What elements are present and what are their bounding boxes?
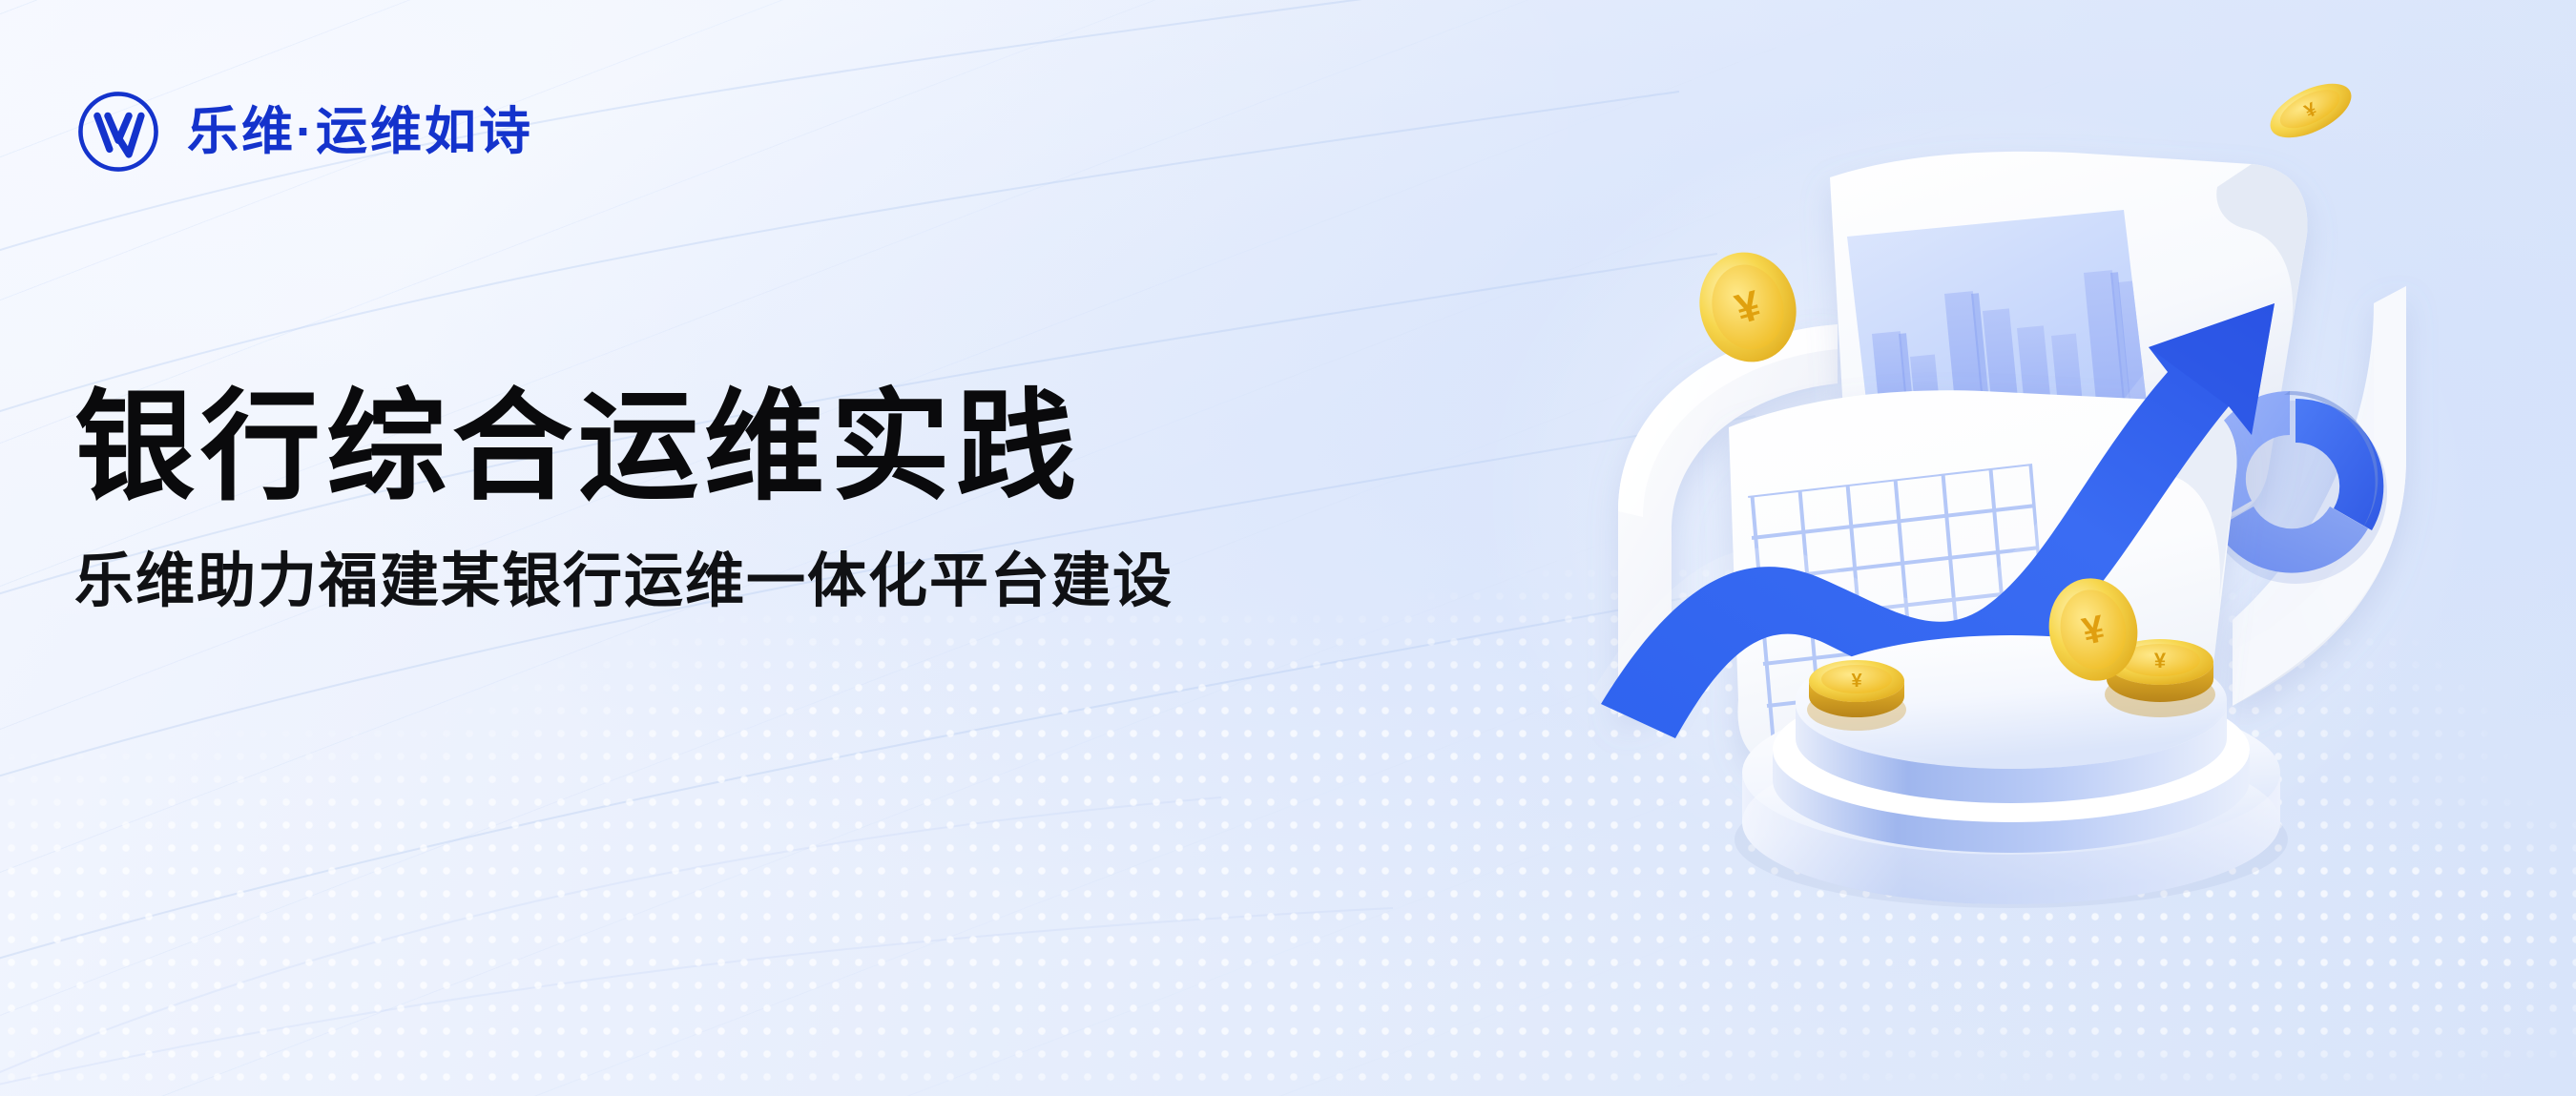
- page-subtitle: 乐维助力福建某银行运维一体化平台建设: [74, 547, 1174, 617]
- 3d-analytics-podium-illustration: ¥ ¥ ¥ ¥ ¥: [1584, 48, 2538, 1021]
- headline-block: 银行综合运维实践 乐维助力福建某银行运维一体化平台建设: [74, 380, 1174, 618]
- gold-coin-floating-top-right: ¥: [2262, 72, 2359, 149]
- brand-logo[interactable]: 乐维·运维如诗: [74, 88, 533, 176]
- brand-name: 乐维·运维如诗: [187, 106, 533, 157]
- banner-root: 乐维·运维如诗 银行综合运维实践 乐维助力福建某银行运维一体化平台建设: [0, 0, 2576, 1096]
- svg-text:¥: ¥: [1851, 671, 1862, 692]
- svg-text:¥: ¥: [2154, 649, 2167, 672]
- gold-coin-left: ¥: [1807, 660, 1906, 731]
- page-title: 银行综合运维实践: [74, 380, 1174, 514]
- w-monogram-circle-icon: [74, 88, 162, 176]
